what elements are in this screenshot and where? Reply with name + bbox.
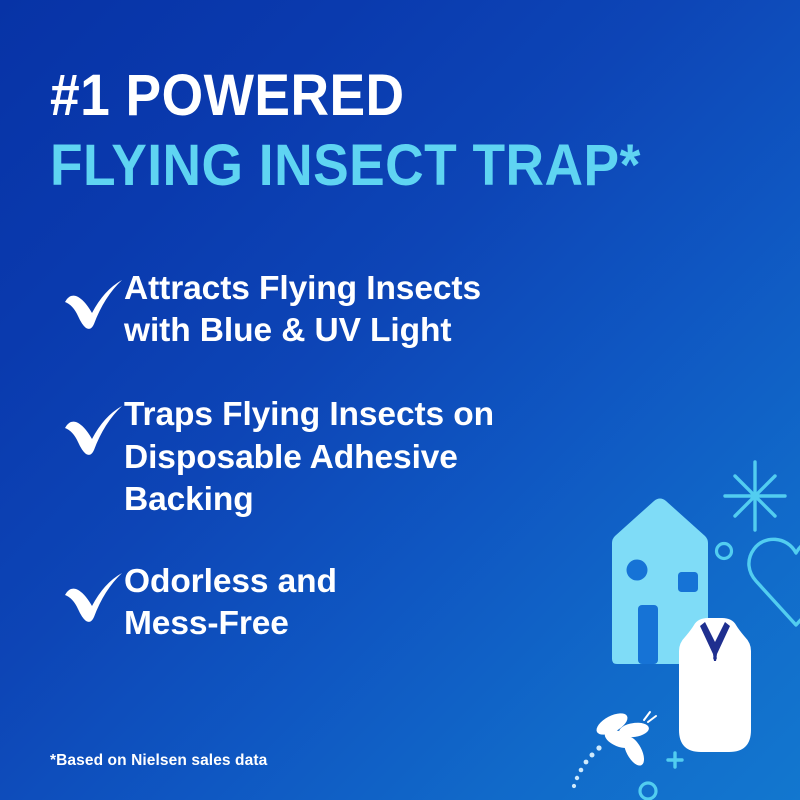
benefit-line: Backing (124, 479, 494, 521)
house-square-window (678, 572, 698, 592)
benefit-line: Attracts Flying Insects (124, 268, 481, 310)
benefit-item: Attracts Flying Insects with Blue & UV L… (62, 266, 662, 352)
headline: #1 POWERED FLYING INSECT TRAP* (50, 68, 780, 193)
benefit-item: Odorless and Mess-Free (62, 559, 662, 645)
circle-outline-icon (640, 783, 656, 799)
benefits-list: Attracts Flying Insects with Blue & UV L… (62, 266, 662, 645)
circle-outline-icon (717, 544, 732, 559)
footnote: *Based on Nielsen sales data (50, 752, 267, 770)
product-feature-banner: #1 POWERED FLYING INSECT TRAP* Attracts … (0, 0, 800, 800)
benefit-item: Traps Flying Insects on Disposable Adhes… (62, 392, 662, 521)
heart-outline-icon (749, 539, 800, 625)
checkmark-icon (62, 565, 124, 623)
benefit-line: Disposable Adhesive (124, 437, 494, 479)
v-logo-icon (700, 622, 730, 661)
plus-icon (668, 753, 682, 767)
benefit-line: Mess-Free (124, 603, 337, 645)
checkmark-icon (62, 272, 124, 330)
headline-line-2: FLYING INSECT TRAP* (50, 138, 722, 194)
fly-icon (593, 709, 656, 769)
benefit-line: Traps Flying Insects on (124, 394, 494, 436)
benefit-line: Odorless and (124, 561, 337, 603)
benefit-text: Traps Flying Insects on Disposable Adhes… (124, 392, 494, 521)
checkmark-icon (62, 398, 124, 456)
benefit-text: Attracts Flying Insects with Blue & UV L… (124, 266, 481, 352)
sparkle-icon (725, 462, 785, 530)
flight-path-dots (572, 745, 602, 788)
benefit-text: Odorless and Mess-Free (124, 559, 337, 645)
headline-line-1: #1 POWERED (50, 68, 722, 124)
benefit-line: with Blue & UV Light (124, 310, 481, 352)
plug-in-trap-device (679, 618, 751, 752)
